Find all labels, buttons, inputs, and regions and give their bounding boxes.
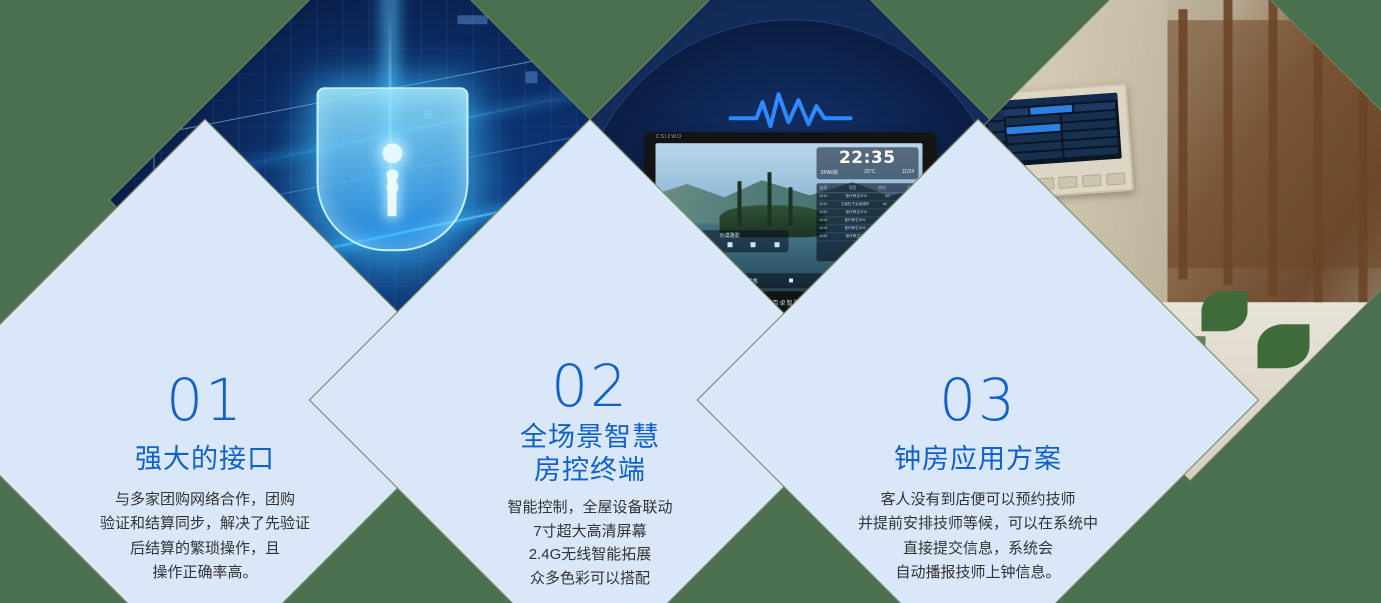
cell-room: A2 — [885, 193, 889, 198]
cell-tech: 6119 — [820, 193, 828, 198]
room-label: SPA6房 — [821, 168, 838, 175]
hw-button-5[interactable] — [1105, 171, 1125, 184]
cell-tech: 6119 — [820, 209, 828, 214]
cell-tech: 6119 — [820, 225, 828, 230]
playlist-icon[interactable] — [774, 242, 779, 247]
temp-label: 25°C — [864, 168, 875, 175]
clock-widget: 22:35 SPA6房 25°C 11/24 — [817, 146, 918, 178]
hw-button-4[interactable] — [1082, 173, 1102, 186]
panel-3-number: 03 — [939, 371, 1017, 429]
panel-2-title: 全场景智慧 房控终端 — [520, 421, 660, 487]
col-item: 项目 — [849, 185, 857, 190]
cell-tech: 6119 — [820, 201, 828, 206]
cell-item: 王南拉子全身调护 — [841, 201, 870, 206]
hw-button-3[interactable] — [1058, 175, 1078, 188]
volume-icon[interactable] — [751, 242, 756, 247]
key-icon — [388, 171, 397, 215]
cell-tech: 6119 — [820, 233, 828, 238]
plant-2 — [1258, 324, 1310, 368]
cell-tech: 6119 — [820, 217, 828, 222]
tablet-brand: CSIZWO — [656, 133, 682, 139]
cell-item: 音疗养生SPA — [844, 217, 865, 222]
panel-2-description: 智能控制，全屋设备联动 7寸超大高清屏幕 2.4G无线智能拓展 众多色彩可以搭配 — [507, 495, 672, 590]
clock-meta: SPA6房 25°C 11/24 — [821, 168, 914, 175]
tab-2[interactable] — [1073, 101, 1115, 111]
panel-1-number: 01 — [166, 371, 244, 429]
cell-item: 音疗养生SPA — [846, 193, 867, 198]
wallpaper-tree-1 — [738, 181, 742, 225]
date-label: 11/24 — [902, 168, 914, 175]
tab-1-active[interactable] — [1030, 104, 1072, 114]
panel-1-description: 与多家团购网络合作，团购 验证和结算同步，解决了先验证 后结算的繁琐操作，且 操… — [100, 487, 310, 584]
col-room: 房间 — [878, 185, 886, 190]
shield-icon — [316, 86, 468, 250]
side-item-0[interactable] — [987, 110, 1004, 120]
wallpaper-tree-3 — [789, 187, 793, 225]
wood-panel-back — [1167, 20, 1381, 268]
technician-list-header: 技师 项目 房间 状态 — [819, 184, 916, 192]
panel-col-right[interactable] — [1061, 110, 1118, 157]
clock-time: 22:35 — [821, 149, 914, 166]
pulse-wave-icon — [728, 87, 852, 136]
panel-3-description: 客人没有到店便可以预约技师 并提前安排技师等候，可以在系统中 直接提交信息，系统… — [858, 487, 1098, 584]
home-icon[interactable]: ◼ — [788, 276, 793, 283]
infographic-stage: CSIZWO 22:35 SPA6房 25°C — [0, 0, 1381, 603]
cell-item: 音疗养生SPA — [846, 209, 867, 214]
panel-1-title: 强大的接口 — [135, 443, 275, 476]
col-tech: 技师 — [820, 185, 828, 190]
panel-2-number: 02 — [551, 357, 629, 415]
wallpaper-tree-2 — [767, 172, 771, 225]
next-icon[interactable] — [727, 242, 732, 247]
panel-3-title: 钟房应用方案 — [894, 443, 1062, 476]
plant-1 — [1201, 290, 1247, 330]
cell-item: 音疗养生SPA — [844, 225, 865, 230]
side-item-1[interactable] — [988, 121, 1005, 131]
cell-room: A2 — [883, 201, 887, 206]
